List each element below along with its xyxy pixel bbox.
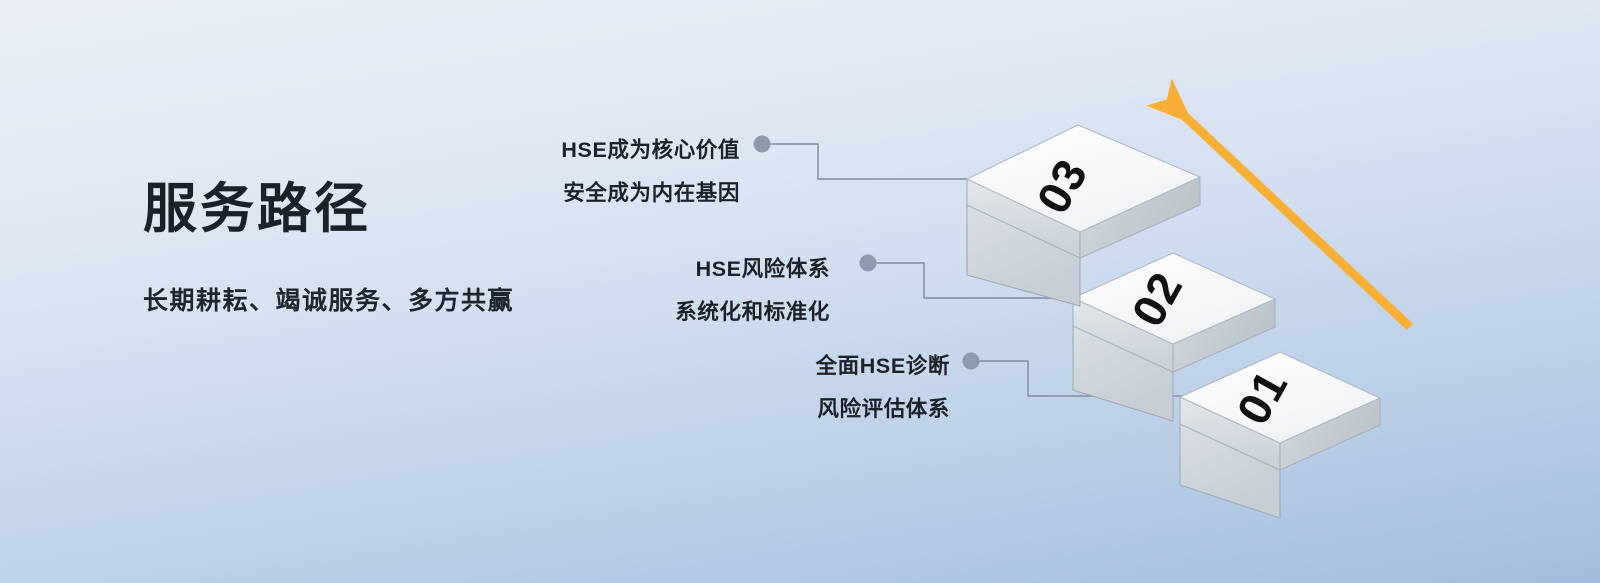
connector-step-01-dot [963, 353, 980, 370]
connector-step-03-line [770, 144, 982, 179]
slide-canvas: 服务路径 长期耕耘、竭诚服务、多方共赢 HSE成为核心价值 安全成为内在基因 H… [0, 0, 1600, 583]
connector-step-02-dot [860, 255, 877, 272]
connector-step-03 [754, 136, 983, 180]
step-block-01: 01 [1180, 352, 1380, 518]
connector-step-03-dot [754, 136, 771, 153]
staircase-diagram: 01 02 03 [0, 0, 1600, 583]
